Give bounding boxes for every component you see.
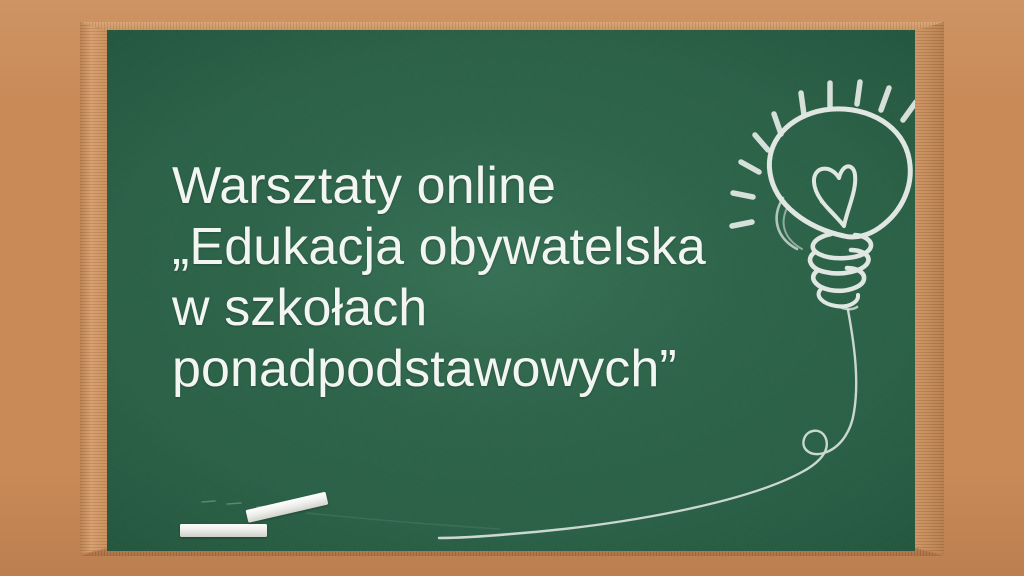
lightbulb-glass xyxy=(769,109,910,249)
title-line-4: ponadpodstawowych” xyxy=(172,339,706,400)
chalk-stick-tilted xyxy=(246,492,329,523)
lightbulb-screw-base xyxy=(810,234,871,309)
lightbulb-rays xyxy=(732,82,915,226)
title-line-2: „Edukacja obywatelska xyxy=(172,217,706,278)
lightbulb-filament xyxy=(814,166,855,226)
page-title: Warsztaty online „Edukacja obywatelska w… xyxy=(172,156,706,400)
title-line-3: w szkołach xyxy=(172,278,706,339)
chalkboard-surface: Warsztaty online „Edukacja obywatelska w… xyxy=(107,30,915,551)
frame-bevel-right xyxy=(914,22,944,554)
title-line-1: Warsztaty online xyxy=(172,156,706,217)
title-slide: Warsztaty online „Edukacja obywatelska w… xyxy=(0,0,1024,576)
chalk-stick-flat xyxy=(180,524,267,537)
frame-bevel-left xyxy=(80,22,108,554)
